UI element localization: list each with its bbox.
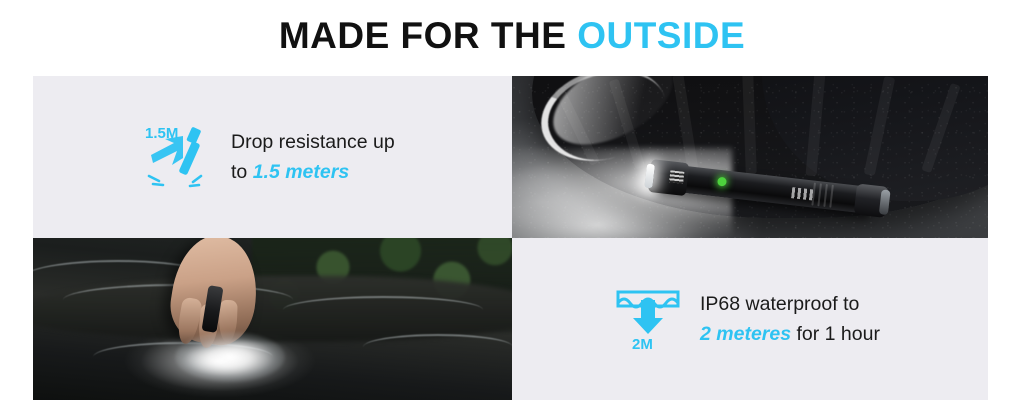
panel-tire-photo	[512, 76, 988, 238]
panel-waterproof: 2M IP68 waterproof to 2 meteres for 1 ho…	[512, 238, 988, 400]
water-depth-icon: 2M	[612, 286, 684, 352]
waterproof-line-2-highlight: 2 meteres	[700, 323, 791, 345]
waterproof-feature-text: IP68 waterproof to 2 meteres for 1 hour	[700, 289, 880, 349]
waterproof-line-2-suffix: for 1 hour	[791, 323, 880, 345]
drop-line-2-prefix: to	[231, 161, 253, 183]
water-photo-image	[33, 238, 512, 400]
waterproof-line-2: 2 meteres for 1 hour	[700, 319, 880, 349]
page-title-accent: OUTSIDE	[577, 15, 745, 56]
water-depth-icon-svg: 2M	[612, 286, 684, 352]
drop-line-2: to 1.5 meters	[231, 157, 395, 187]
water-icon-label: 2M	[632, 336, 653, 353]
drop-line-1: Drop resistance up	[231, 127, 395, 157]
panel-drop-resistance: 1.5M Drop resistance up to 1.5 meters	[33, 76, 512, 238]
feature-grid: 1.5M Drop resistance up to 1.5 meters	[33, 76, 988, 400]
page-title-plain: MADE FOR THE	[279, 15, 577, 56]
waterproof-line-1: IP68 waterproof to	[700, 289, 880, 319]
water-ripple	[363, 334, 512, 360]
flashlight-brand-label	[669, 170, 684, 184]
drop-impact-icon-svg: 1.5M	[143, 124, 215, 190]
water-ripple	[283, 296, 483, 324]
waterproof-feature-block: 2M IP68 waterproof to 2 meteres for 1 ho…	[612, 286, 880, 352]
drop-icon-label: 1.5M	[145, 125, 178, 142]
drop-feature-block: 1.5M Drop resistance up to 1.5 meters	[143, 124, 395, 190]
page-title: MADE FOR THE OUTSIDE	[0, 14, 1024, 58]
drop-line-2-highlight: 1.5 meters	[253, 161, 349, 183]
drop-impact-icon: 1.5M	[143, 124, 215, 190]
tire-photo-image	[512, 76, 988, 238]
panel-water-photo	[33, 238, 512, 400]
underwater-glow	[175, 332, 285, 382]
drop-feature-text: Drop resistance up to 1.5 meters	[231, 127, 395, 187]
flashlight-certification-marks	[791, 187, 814, 200]
